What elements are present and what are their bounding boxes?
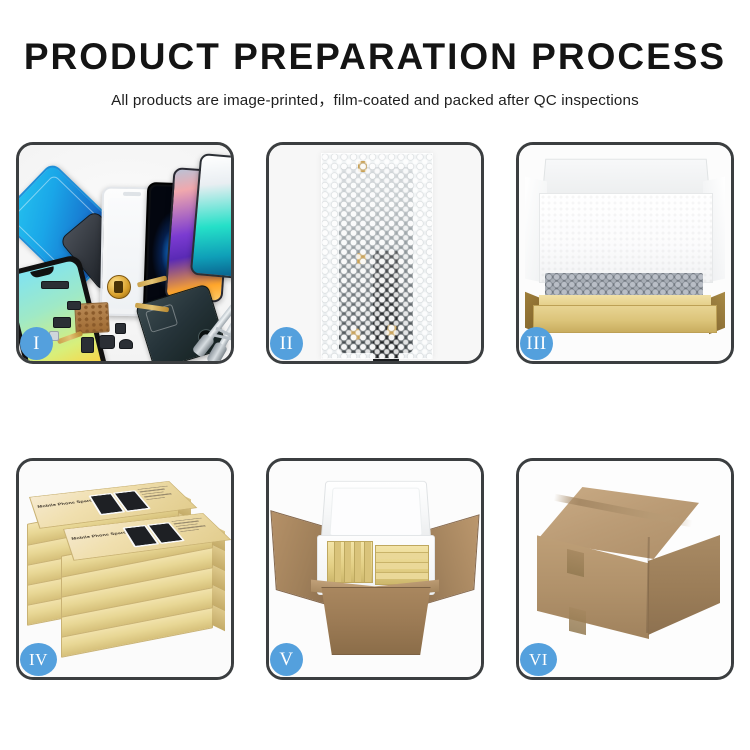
process-step-card-2[interactable]: II [266,142,484,364]
step-badge-5: V [270,643,303,676]
product-assortment-illustration [19,145,231,361]
sealed-carton-illustration [519,461,731,677]
chip-part-icon [53,317,71,328]
step-badge-6: VI [520,643,557,676]
step-badge-4: IV [20,643,57,676]
kraft-tray-front [533,305,717,333]
product-preparation-infographic: PRODUCT PREPARATION PROCESS All products… [0,0,750,750]
step-badge-2: II [270,327,303,360]
process-step-card-3[interactable]: III [516,142,734,364]
retail-box-stack-illustration: Mobile Phone Spare Parts Mobile Phone Sp… [19,461,231,677]
page-subtitle: All products are image-printed，film-coat… [0,88,750,110]
box-stack: Mobile Phone Spare Parts Mobile Phone Sp… [25,475,225,665]
carton-hand-hole [567,549,584,577]
chip-part-icon [81,337,94,353]
chip-part-icon [99,335,115,349]
chip-part-icon [41,281,69,289]
bubble-wrap-bag [321,153,433,359]
inner-box-packing-illustration [519,145,731,361]
foam-carton-packing-illustration [269,461,481,677]
gold-component-icon [107,275,131,299]
carton-hand-hole [569,607,586,635]
carton-front-panel [311,587,441,655]
step-badge-3: III [520,327,553,360]
retail-box-group-vertical [327,541,373,583]
bubble-wrap-packing-illustration [269,145,481,361]
header: PRODUCT PREPARATION PROCESS All products… [0,38,750,110]
process-step-card-5[interactable]: V [266,458,484,680]
chip-part-icon [67,301,81,310]
process-step-card-4[interactable]: Mobile Phone Spare Parts Mobile Phone Sp… [16,458,234,680]
process-step-grid: I II [16,142,734,682]
white-foam-liner [539,193,713,283]
process-step-card-1[interactable]: I [16,142,234,364]
retail-box-group-horizontal [375,545,429,585]
process-step-card-6[interactable]: VI [516,458,734,680]
page-title: PRODUCT PREPARATION PROCESS [0,38,750,75]
step-badge-1: I [20,327,53,360]
bag-edge [321,153,433,359]
chip-part-icon [115,323,126,334]
chip-part-icon [119,339,133,349]
